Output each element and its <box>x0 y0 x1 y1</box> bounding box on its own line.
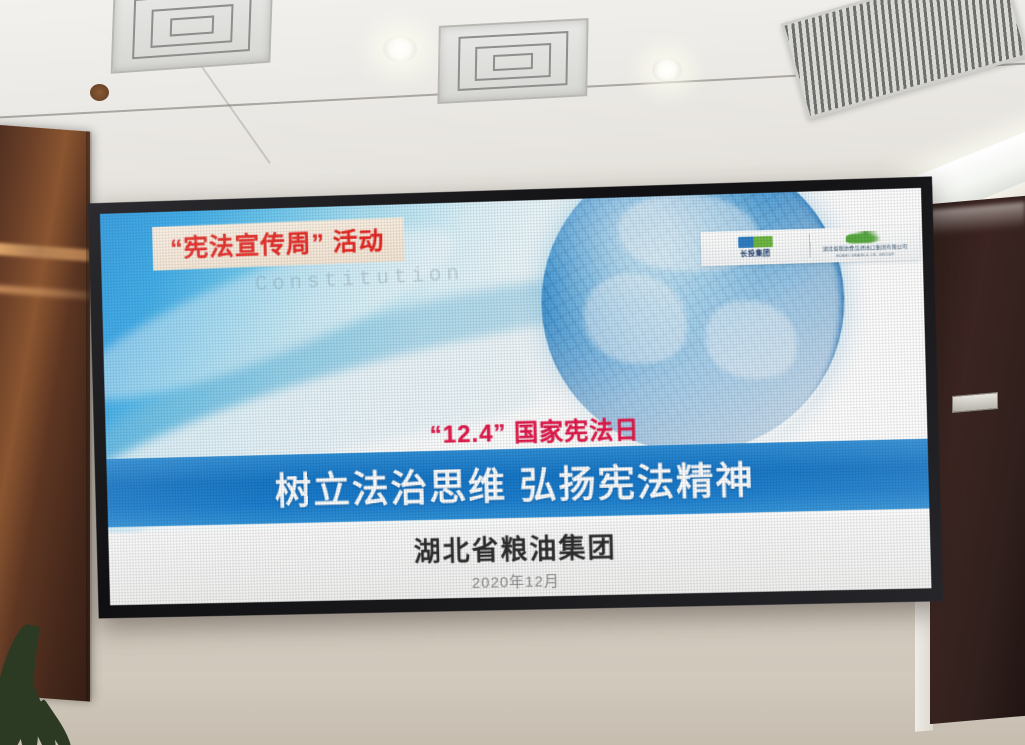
air-diffuser-icon <box>111 0 274 74</box>
led-video-wall[interactable]: Constitution “宪法宣传周” 活动 长投集团 湖北省粮油食品进出口集… <box>88 176 943 618</box>
panel-highlight <box>0 242 90 261</box>
logo-strip: 长投集团 湖北省粮油食品进出口集团有限公司 HUBEI GRAIN & OIL … <box>701 226 920 267</box>
logo-right: 湖北省粮油食品进出口集团有限公司 HUBEI GRAIN & OIL GROUP <box>810 230 920 260</box>
downlight-icon <box>383 36 417 62</box>
company-logo-icon <box>738 236 773 248</box>
screen-surface[interactable]: Constitution “宪法宣传周” 活动 长投集团 湖北省粮油食品进出口集… <box>100 188 932 605</box>
slide-date: 2020年12月 <box>472 570 561 593</box>
diffuser-ring <box>170 15 214 36</box>
ceiling-spotlight-icon <box>90 84 109 101</box>
right-door[interactable] <box>930 196 1025 724</box>
leaf-swoosh-icon <box>845 231 884 244</box>
downlight-icon <box>652 58 682 82</box>
screen-bezel: Constitution “宪法宣传周” 活动 长投集团 湖北省粮油食品进出口集… <box>88 176 943 618</box>
air-diffuser-icon <box>437 18 588 104</box>
floor <box>0 672 1025 745</box>
organization-name: 湖北省粮油集团 <box>413 526 617 569</box>
slide-main-title: 树立法治思维 弘扬宪法精神 <box>274 450 755 515</box>
meeting-room-scene: Constitution “宪法宣传周” 活动 长投集团 湖北省粮油食品进出口集… <box>0 0 1025 745</box>
logo-left-caption: 长投集团 <box>740 248 770 259</box>
left-wood-panel[interactable] <box>0 124 90 701</box>
diffuser-ring <box>492 53 533 71</box>
constitution-day-headline: “12.4” 国家宪法日 <box>429 410 639 450</box>
logo-left: 长投集团 <box>701 235 810 260</box>
logo-right-caption: 湖北省粮油食品进出口集团有限公司 <box>823 243 908 253</box>
potted-plant <box>0 621 140 745</box>
logo-right-subcaption: HUBEI GRAIN & OIL GROUP <box>836 252 895 259</box>
door-highlight <box>930 202 1025 236</box>
panel-highlight <box>0 284 90 299</box>
